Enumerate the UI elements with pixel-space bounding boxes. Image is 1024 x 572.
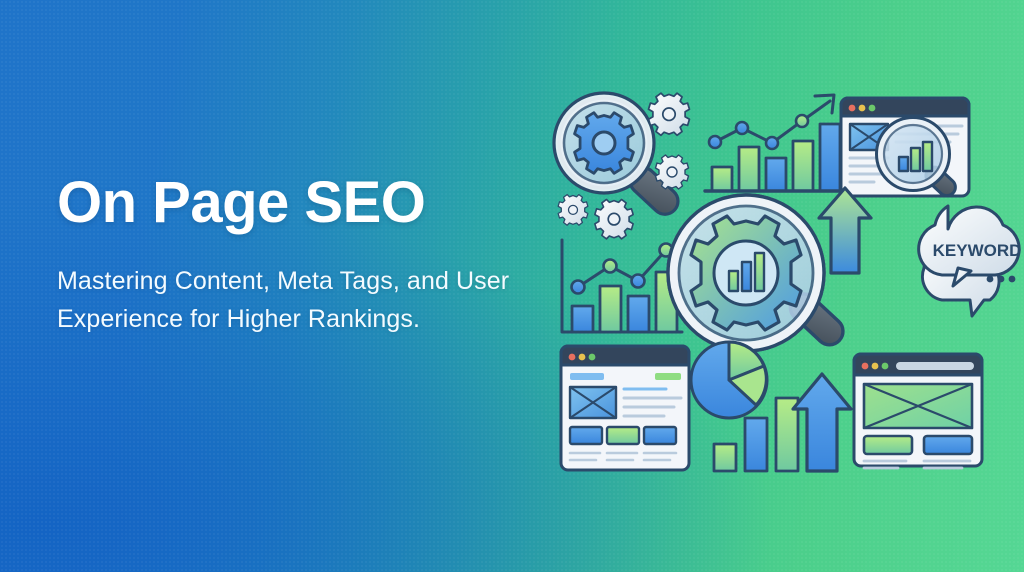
seo-banner: On Page SEO Mastering Content, Meta Tags… bbox=[0, 0, 1024, 572]
page-subtitle: Mastering Content, Meta Tags, and User E… bbox=[57, 262, 547, 338]
line-and-bar-chart-icon bbox=[562, 240, 682, 332]
page-title: On Page SEO bbox=[57, 172, 547, 235]
bubble-dots-icon bbox=[987, 276, 1016, 283]
illustration-collage: KEYWORD bbox=[534, 78, 1004, 492]
browser-window-wireframe-icon bbox=[561, 346, 689, 470]
keyword-speech-bubble-icon: KEYWORD bbox=[919, 206, 1022, 316]
bar-chart-with-trend-arrow-icon bbox=[705, 95, 849, 191]
keyword-label: KEYWORD bbox=[933, 241, 1022, 260]
up-arrow-icon bbox=[819, 188, 871, 273]
browser-window-with-magnifier-chart-icon bbox=[841, 98, 969, 199]
pie-chart-icon bbox=[691, 342, 767, 418]
copy-block: On Page SEO Mastering Content, Meta Tags… bbox=[57, 172, 547, 338]
browser-window-image-buttons-icon bbox=[854, 354, 982, 468]
